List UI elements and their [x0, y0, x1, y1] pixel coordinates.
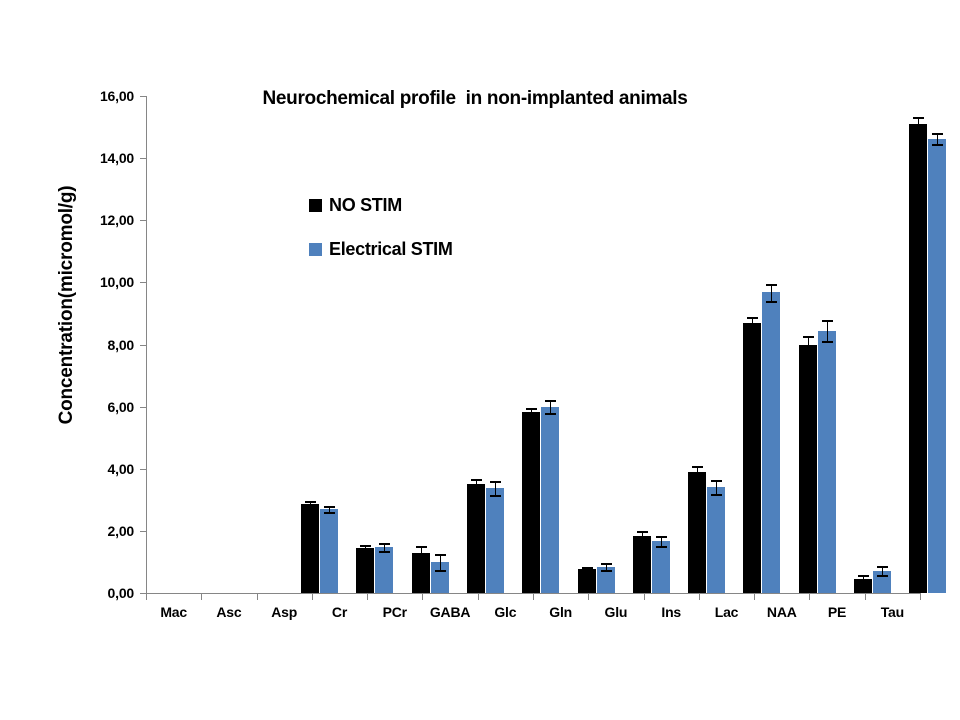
error-bar — [421, 546, 422, 560]
error-bar-cap — [766, 301, 777, 303]
error-bar-cap — [766, 284, 777, 286]
chart-legend: NO STIM Electrical STIM — [309, 192, 453, 280]
x-axis-tick — [699, 593, 700, 600]
x-axis-tick-label: Gln — [549, 604, 572, 620]
bar-glc-no-stim — [633, 536, 651, 593]
x-axis-tick — [257, 593, 258, 600]
bar-glu-electrical-stim — [762, 292, 780, 593]
error-bar-cap — [416, 559, 427, 561]
bar-naa-electrical-stim — [928, 139, 946, 593]
error-bar-cap — [471, 490, 482, 492]
y-axis-tick-label: 12,00 — [72, 212, 134, 228]
bar-gln-electrical-stim — [707, 487, 725, 593]
x-axis-tick-label: PCr — [383, 604, 407, 620]
error-bar — [440, 554, 441, 570]
error-bar-cap — [526, 408, 537, 410]
error-bar-cap — [711, 480, 722, 482]
bar-cr-electrical-stim — [486, 488, 504, 593]
bar-pcr-no-stim — [522, 412, 540, 593]
error-bar-cap — [747, 317, 758, 319]
error-bar-cap — [877, 575, 888, 577]
x-axis-tick — [478, 593, 479, 600]
error-bar-cap — [932, 144, 943, 146]
y-axis-tick-label: 16,00 — [72, 88, 134, 104]
error-bar-cap — [913, 117, 924, 119]
error-bar — [827, 320, 828, 342]
error-bar-cap — [692, 466, 703, 468]
x-axis-tick-label: GABA — [430, 604, 470, 620]
x-axis-tick — [146, 593, 147, 600]
error-bar-cap — [360, 545, 371, 547]
x-axis-tick-label: NAA — [767, 604, 797, 620]
x-axis-tick — [809, 593, 810, 600]
bar-glc-electrical-stim — [652, 541, 670, 593]
legend-label: Electrical STIM — [329, 239, 453, 260]
bar-naa-no-stim — [909, 124, 927, 593]
x-axis-tick-label: Mac — [160, 604, 187, 620]
y-axis-tick-label: 2,00 — [72, 523, 134, 539]
error-bar-cap — [582, 567, 593, 569]
error-bar-cap — [526, 417, 537, 419]
error-bar-cap — [545, 400, 556, 402]
error-bar-cap — [747, 330, 758, 332]
x-axis-tick — [201, 593, 202, 600]
error-bar-cap — [582, 571, 593, 573]
x-axis-tick-label: Tau — [881, 604, 904, 620]
error-bar-cap — [305, 508, 316, 510]
error-bar-cap — [490, 495, 501, 497]
error-bar-cap — [637, 542, 648, 544]
error-bar — [771, 284, 772, 301]
x-axis-tick — [533, 593, 534, 600]
error-bar-cap — [692, 479, 703, 481]
error-bar-cap — [601, 570, 612, 572]
bar-gln-no-stim — [688, 472, 706, 593]
error-bar-cap — [435, 570, 446, 572]
error-bar-cap — [858, 583, 869, 585]
legend-swatch-icon — [309, 199, 322, 212]
bar-asc-no-stim — [356, 548, 374, 593]
error-bar-cap — [822, 320, 833, 322]
error-bar-cap — [877, 566, 888, 568]
error-bar-cap — [435, 554, 446, 556]
x-axis-tick — [644, 593, 645, 600]
x-axis-tick — [588, 593, 589, 600]
x-axis-tick-label: Glc — [494, 604, 516, 620]
legend-swatch-icon — [309, 243, 322, 256]
chart-container: Concentration(micromol/g) Neurochemical … — [0, 0, 960, 720]
x-axis-tick — [367, 593, 368, 600]
x-axis-tick — [754, 593, 755, 600]
bar-mac-electrical-stim — [320, 509, 338, 593]
x-axis-tick-label: Glu — [605, 604, 628, 620]
x-axis-tick — [920, 593, 921, 600]
plot-area — [146, 96, 920, 593]
y-axis-tick-label: 4,00 — [72, 461, 134, 477]
error-bar-cap — [656, 546, 667, 548]
y-axis-tick-label: 8,00 — [72, 337, 134, 353]
error-bar-cap — [324, 506, 335, 508]
error-bar-cap — [822, 341, 833, 343]
legend-label: NO STIM — [329, 195, 402, 216]
error-bar-cap — [913, 131, 924, 133]
error-bar-cap — [324, 512, 335, 514]
error-bar-cap — [711, 494, 722, 496]
error-bar-cap — [803, 355, 814, 357]
error-bar-cap — [471, 479, 482, 481]
error-bar-cap — [490, 481, 501, 483]
error-bar-cap — [803, 336, 814, 338]
legend-item-electrical-stim: Electrical STIM — [309, 236, 453, 262]
error-bar-cap — [360, 551, 371, 553]
bar-ins-no-stim — [799, 345, 817, 593]
x-axis-tick — [422, 593, 423, 600]
error-bar-cap — [416, 546, 427, 548]
error-bar-cap — [601, 563, 612, 565]
bar-pcr-electrical-stim — [541, 407, 559, 593]
error-bar-cap — [656, 536, 667, 538]
error-bar — [918, 117, 919, 131]
bar-asc-electrical-stim — [375, 547, 393, 593]
x-axis-tick-label: PE — [828, 604, 846, 620]
error-bar-cap — [858, 575, 869, 577]
bar-cr-no-stim — [467, 484, 485, 593]
error-bar-cap — [932, 133, 943, 135]
error-bar-cap — [637, 531, 648, 533]
y-axis-tick-label: 0,00 — [72, 585, 134, 601]
bar-ins-electrical-stim — [818, 331, 836, 593]
x-axis-tick-label: Ins — [661, 604, 681, 620]
y-axis-tick-label: 10,00 — [72, 274, 134, 290]
error-bar — [716, 480, 717, 494]
y-axis-tick-label: 14,00 — [72, 150, 134, 166]
legend-item-no-stim: NO STIM — [309, 192, 453, 218]
error-bar-cap — [545, 413, 556, 415]
error-bar-cap — [379, 551, 390, 553]
x-axis-tick-label: Cr — [332, 604, 347, 620]
bar-glu-no-stim — [743, 323, 761, 593]
y-axis-tick-label: 6,00 — [72, 399, 134, 415]
error-bar-cap — [379, 543, 390, 545]
x-axis-tick-label: Asp — [271, 604, 297, 620]
x-axis-tick-label: Asc — [216, 604, 241, 620]
x-axis-tick-label: Lac — [715, 604, 739, 620]
error-bar — [808, 336, 809, 355]
bar-mac-no-stim — [301, 504, 319, 593]
x-axis-tick — [865, 593, 866, 600]
x-axis-tick — [312, 593, 313, 600]
error-bar — [495, 481, 496, 495]
error-bar-cap — [305, 501, 316, 503]
